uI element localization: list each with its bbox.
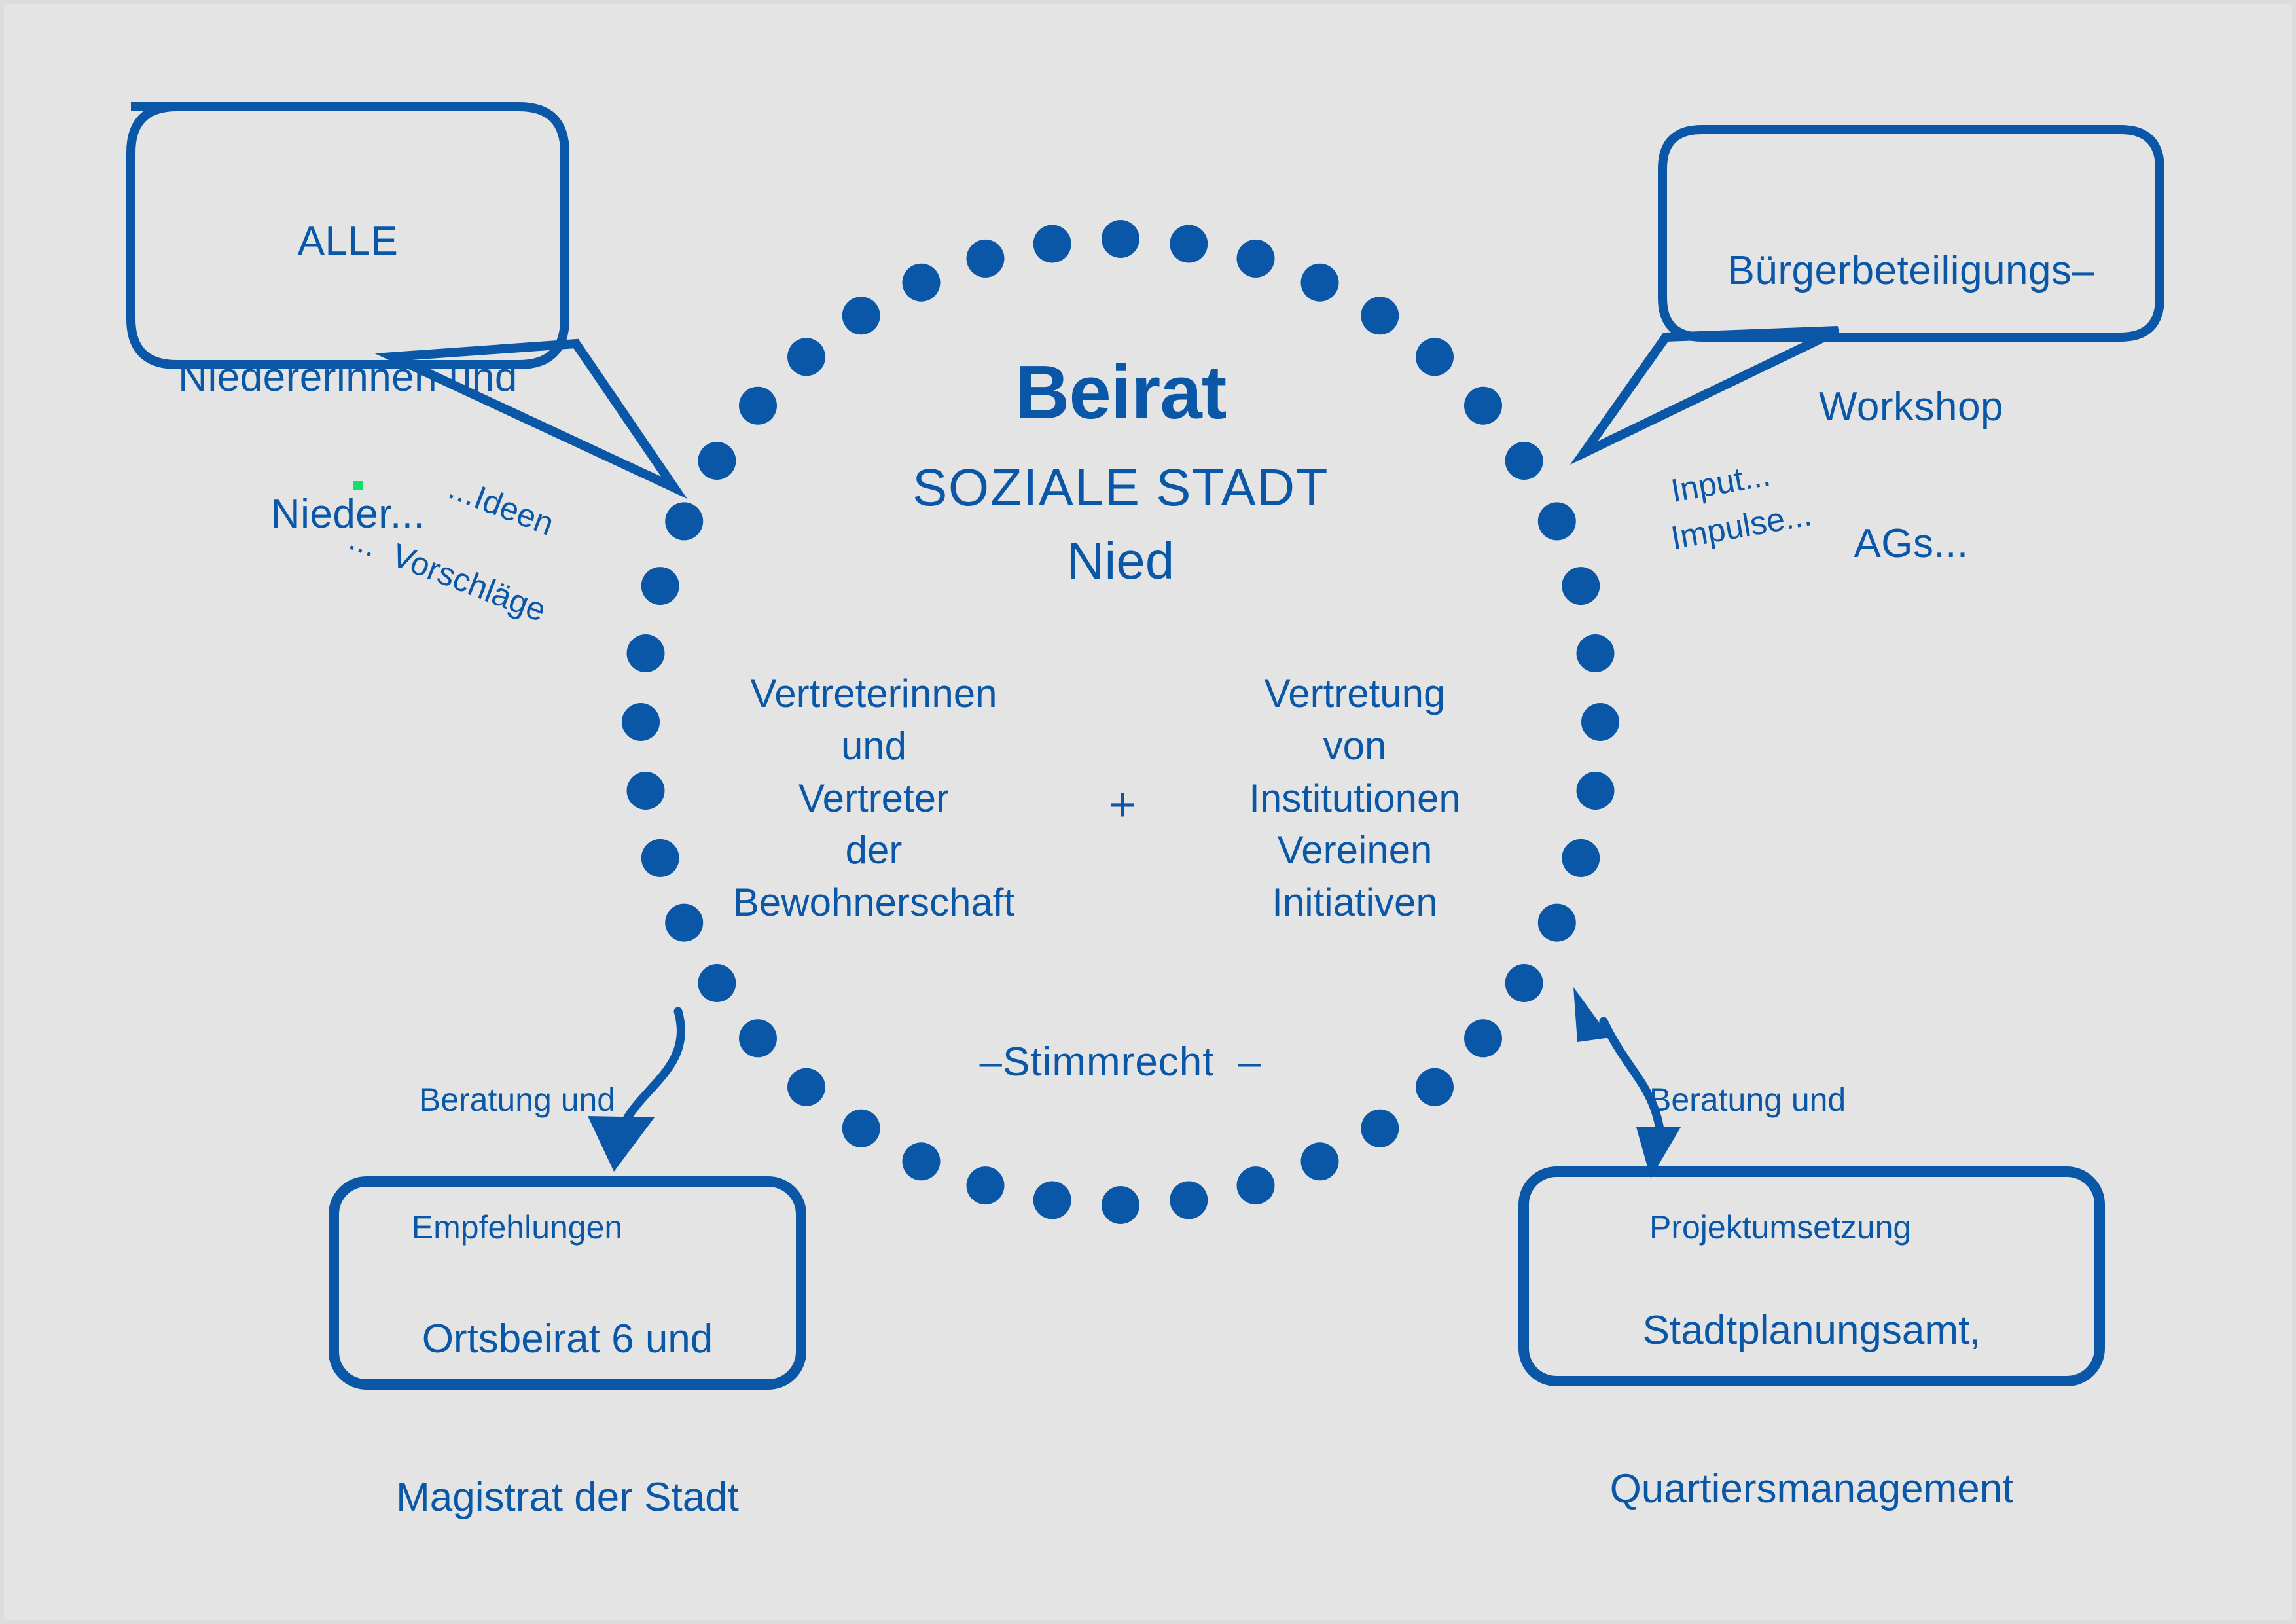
circle-dot [1361, 1110, 1399, 1147]
circle-dot [1538, 502, 1576, 540]
circle-dot [1581, 703, 1619, 741]
subtitle-line-1: SOZIALE STADT [793, 458, 1448, 517]
circle-dot [665, 502, 703, 540]
circle-dot [967, 240, 1005, 278]
circle-dot [665, 904, 703, 942]
circle-dot [1538, 904, 1576, 942]
bubble-top-right-line2: Workshop [1662, 384, 2160, 429]
circle-dot [1301, 1142, 1339, 1180]
bubble-top-left-line2: Niedererinnen und [131, 355, 565, 400]
bubble-top-right-text: Bürgerbeteiligungs– Workshop AGs... [1662, 157, 2160, 657]
box-br-line3: und Projektsteuerung [1524, 1621, 2100, 1624]
circle-dot [698, 964, 736, 1002]
circle-dot [842, 297, 880, 334]
circle-dot [698, 442, 736, 480]
circle-dot [1033, 1182, 1071, 1219]
box-br-line1: Stadtplanungsamt, [1524, 1305, 2100, 1358]
plus-operator: + [1086, 779, 1158, 832]
box-bl-line1: Ortsbeirat 6 und [334, 1313, 801, 1366]
annotation-bl-line1: Beratung und [380, 1079, 655, 1121]
circle-dot [1505, 964, 1543, 1002]
circle-dot [903, 264, 941, 302]
circle-dot [627, 634, 665, 672]
circle-dot [641, 839, 679, 877]
circle-dot [622, 703, 660, 741]
box-stadtplanungsamt-text: Stadtplanungsamt, Quartiersmanagement un… [1524, 1199, 2100, 1624]
circle-dot [1301, 264, 1339, 302]
circle-dot [1562, 567, 1600, 605]
circle-dot [967, 1166, 1005, 1204]
circle-dot [1562, 839, 1600, 877]
subtitle-line-2: Nied [793, 532, 1448, 590]
circle-dot [1464, 387, 1502, 425]
box-ortsbeirat-text: Ortsbeirat 6 und Magistrat der Stadt Fra… [334, 1208, 801, 1624]
circle-dot [842, 1110, 880, 1147]
circle-dot [739, 1019, 777, 1057]
circle-dot [1170, 225, 1208, 263]
circle-dot [1464, 1019, 1502, 1057]
circle-dot [1237, 240, 1275, 278]
stimmrecht-note: –Stimmrecht – [793, 1039, 1448, 1085]
circle-dot [1577, 634, 1615, 672]
bubble-top-right-line1: Bürgerbeteiligungs– [1662, 248, 2160, 293]
diagram-canvas: ALLE Niedererinnen und Nieder... Bürgerb… [0, 0, 2296, 1624]
circle-dot [1102, 220, 1139, 258]
center-right-column: Vertretung von Institutionen Vereinen In… [1191, 668, 1518, 929]
circle-dot [739, 387, 777, 425]
center-left-column: Vertreterinnen und Vertreter der Bewohne… [704, 668, 1044, 929]
circle-dot [1505, 442, 1543, 480]
circle-dot [1577, 772, 1615, 810]
circle-dot [903, 1142, 941, 1180]
circle-dot [1361, 297, 1399, 334]
circle-dot [1033, 225, 1071, 263]
bubble-top-left-line1: ALLE [131, 219, 565, 264]
circle-dot [627, 772, 665, 810]
circle-dot [1170, 1182, 1208, 1219]
box-br-line2: Quartiersmanagement [1524, 1463, 2100, 1516]
circle-dot [1237, 1166, 1275, 1204]
page-title: Beirat [793, 350, 1448, 435]
annotation-br-line1: Beratung und [1649, 1079, 1950, 1121]
circle-dot [641, 567, 679, 605]
box-bl-line2: Magistrat der Stadt [334, 1471, 801, 1525]
circle-dot [1102, 1186, 1139, 1224]
